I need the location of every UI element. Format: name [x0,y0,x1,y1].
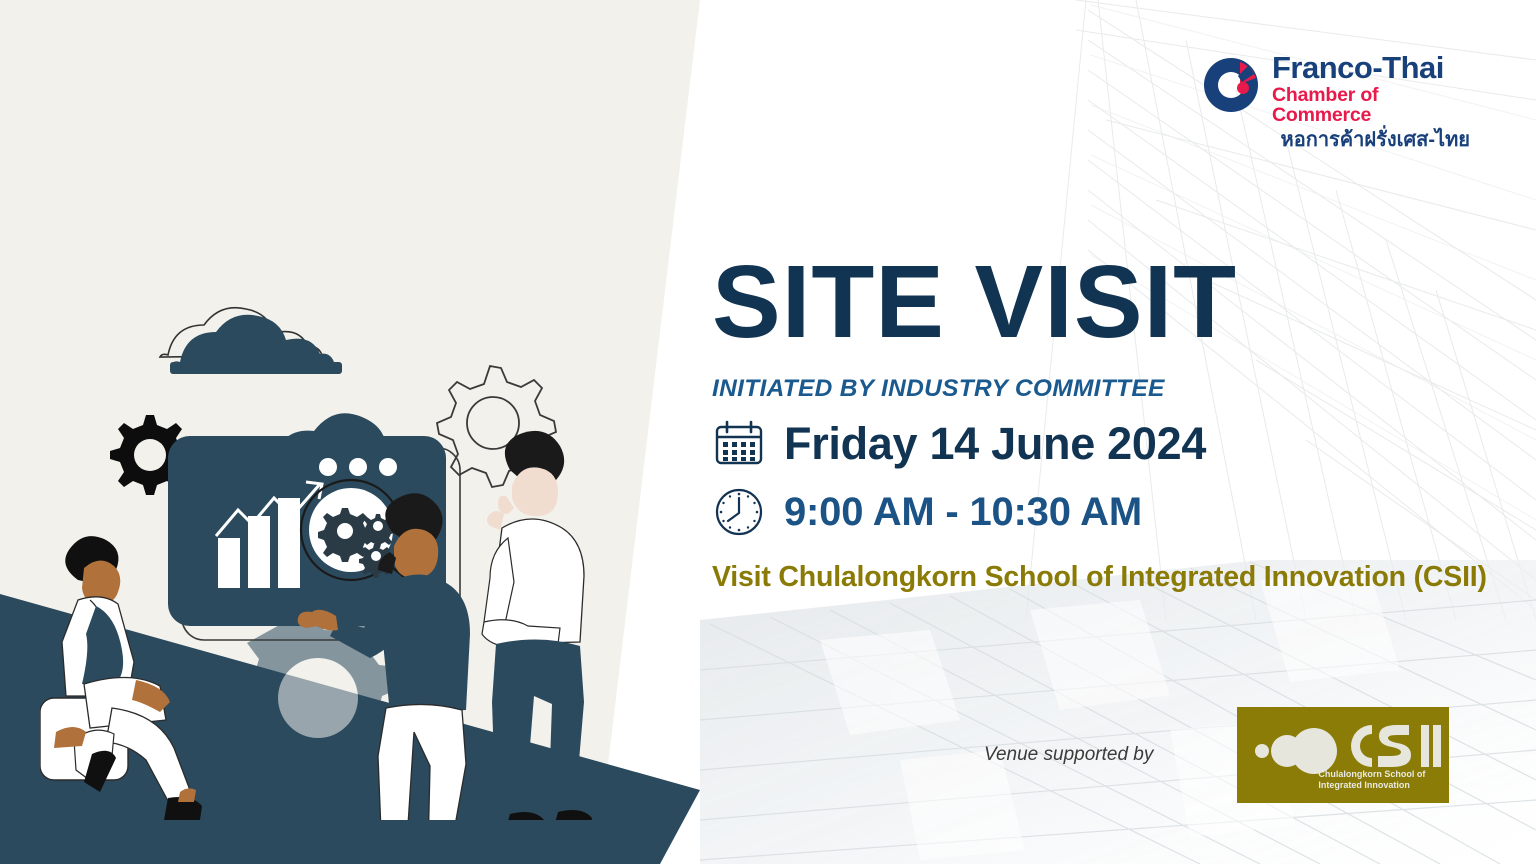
ftcc-logo-line1: Franco-Thai [1272,52,1470,83]
date-row: Friday 14 June 2024 [712,417,1502,471]
csii-sub-line1: Chulalongkorn School of [1318,769,1425,779]
ftcc-logo: Franco-Thai Chamber of Commerce หอการค้า… [1200,52,1470,152]
event-details: SITE VISIT INITIATED BY INDUSTRY COMMITT… [712,250,1502,594]
person-thinking [482,431,592,820]
cloud-icon [160,308,342,374]
event-banner: Franco-Thai Chamber of Commerce หอการค้า… [0,0,1536,864]
team-analytics-illustration [40,300,640,820]
sponsor-block: Venue supported by Chulalongkorn School … [984,700,1454,810]
event-time: 9:00 AM - 10:30 AM [784,490,1142,535]
sponsor-label: Venue supported by [984,744,1153,766]
page-subtitle: INITIATED BY INDUSTRY COMMITTEE [712,375,1502,403]
time-row: 9:00 AM - 10:30 AM [712,485,1502,539]
csii-sub-line2: Integrated Innovation [1318,780,1410,790]
csii-logo: Chulalongkorn School of Integrated Innov… [1237,707,1449,803]
event-date: Friday 14 June 2024 [784,418,1206,470]
window-dots-icon [319,458,397,476]
page-title: SITE VISIT [712,250,1502,353]
ftcc-logo-line2: Chamber of Commerce [1272,86,1470,125]
ftcc-logo-line3-thai: หอการค้าฝรั่งเศส-ไทย [1281,130,1470,150]
csii-logo-subtitle: Chulalongkorn School of Integrated Innov… [1318,769,1438,792]
calendar-icon [712,417,766,471]
event-venue: Visit Chulalongkorn School of Integrated… [712,561,1502,594]
clock-icon [712,485,766,539]
ftcc-c-mark-icon [1200,54,1262,116]
